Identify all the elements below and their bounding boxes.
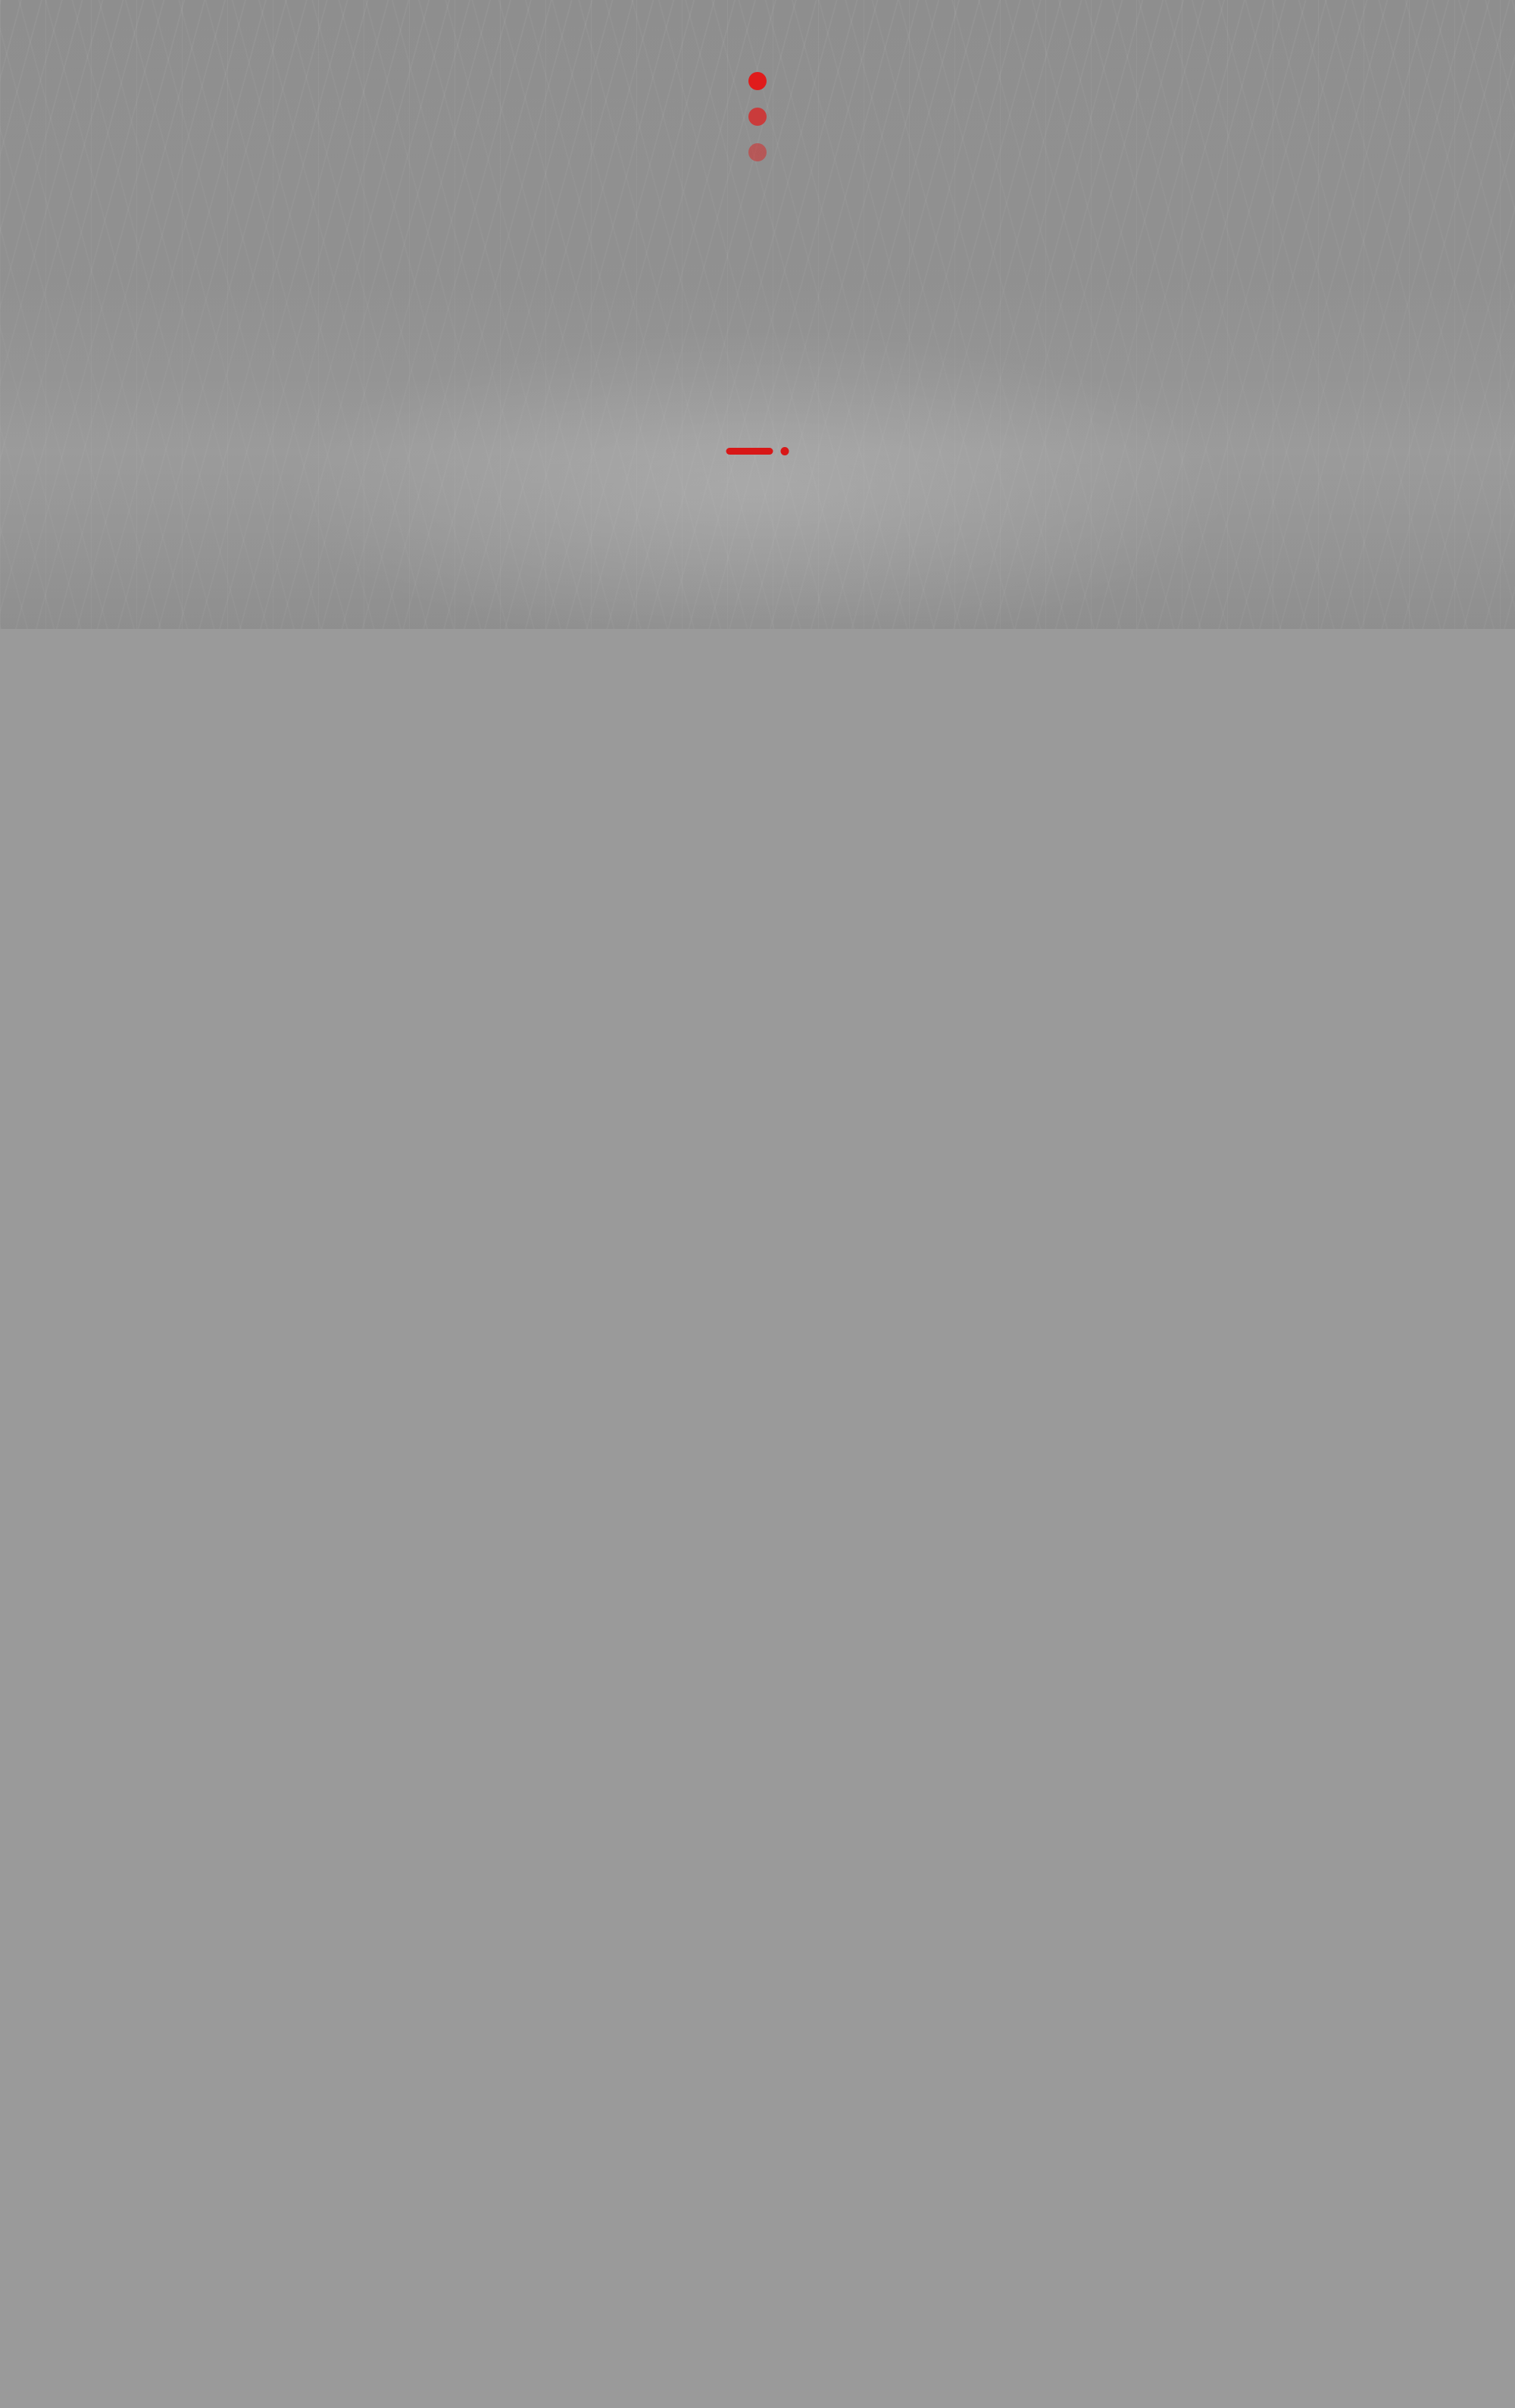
hero-dot-2	[748, 108, 767, 126]
hero-dot-1	[748, 72, 767, 90]
hero-underline-bar	[726, 448, 773, 455]
hero-underline-dot	[781, 447, 789, 455]
hero-underline	[726, 447, 789, 455]
hero-dots	[748, 72, 767, 179]
hero-banner	[0, 0, 1515, 629]
hero-dot-3	[748, 143, 767, 161]
